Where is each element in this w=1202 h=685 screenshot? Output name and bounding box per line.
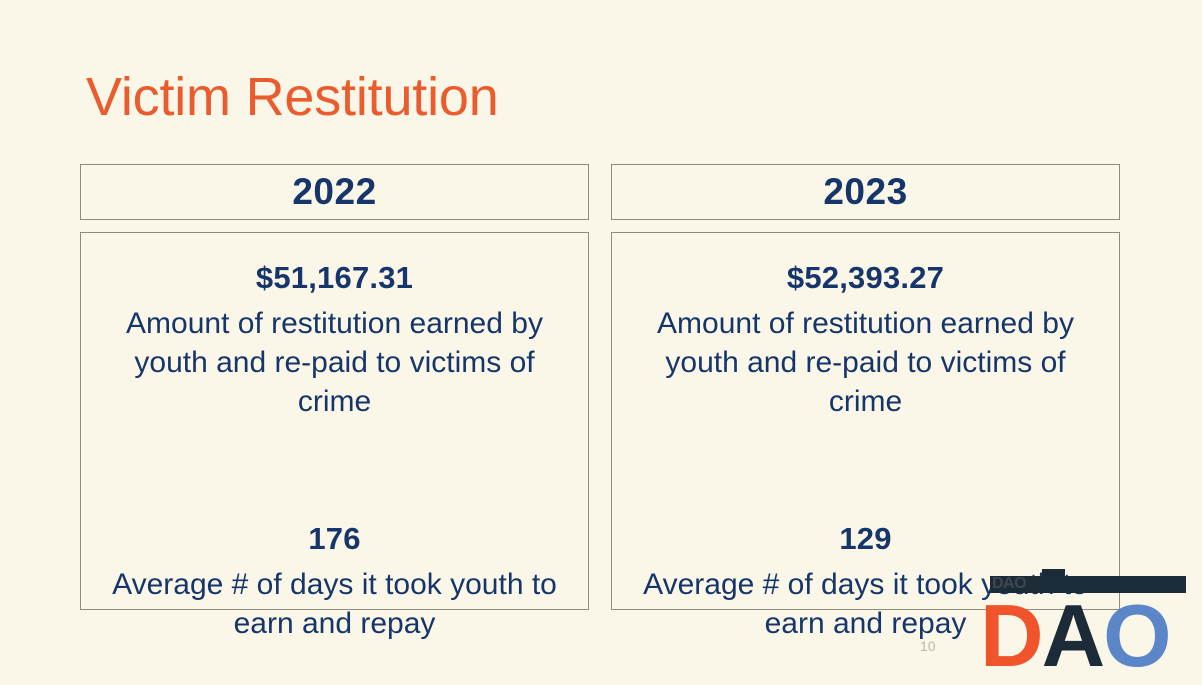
logo-bar-notch-shape [1042, 569, 1065, 578]
metric-value-days-2023: 129 [626, 519, 1105, 559]
metric-value-restitution-2022: $51,167.31 [95, 258, 574, 298]
metric-block-restitution-2023: $52,393.27 Amount of restitution earned … [626, 258, 1105, 421]
logo-letter-o: O [1103, 586, 1169, 685]
metric-description-days-2022: Average # of days it took youth to earn … [95, 565, 574, 643]
page-title: Victim Restitution [86, 62, 499, 132]
year-label-2023: 2023 [823, 171, 907, 213]
metric-value-days-2022: 176 [95, 519, 574, 559]
year-label-2022: 2022 [292, 171, 376, 213]
table-body-row: $51,167.31 Amount of restitution earned … [80, 232, 1120, 610]
table-body-cell-2023: $52,393.27 Amount of restitution earned … [611, 232, 1120, 610]
metric-value-restitution-2023: $52,393.27 [626, 258, 1105, 298]
metric-description-restitution-2023: Amount of restitution earned by youth an… [626, 304, 1105, 421]
slide-canvas: Victim Restitution 2022 2023 $51,167.31 … [0, 0, 1202, 675]
metric-block-restitution-2022: $51,167.31 Amount of restitution earned … [95, 258, 574, 421]
logo-letter-a: A [1042, 586, 1104, 685]
page-number: 10 [920, 638, 936, 654]
logo-wordmark: DAO [980, 592, 1170, 680]
restitution-table: 2022 2023 $51,167.31 Amount of restituti… [80, 164, 1120, 610]
metric-block-days-2022: 176 Average # of days it took youth to e… [95, 519, 574, 643]
table-header-row: 2022 2023 [80, 164, 1120, 220]
metric-description-restitution-2022: Amount of restitution earned by youth an… [95, 304, 574, 421]
logo-letter-d: D [980, 586, 1042, 685]
table-header-cell-2023: 2023 [611, 164, 1120, 220]
table-body-cell-2022: $51,167.31 Amount of restitution earned … [80, 232, 589, 610]
table-header-cell-2022: 2022 [80, 164, 589, 220]
dao-logo: DAO DAO [980, 566, 1202, 675]
